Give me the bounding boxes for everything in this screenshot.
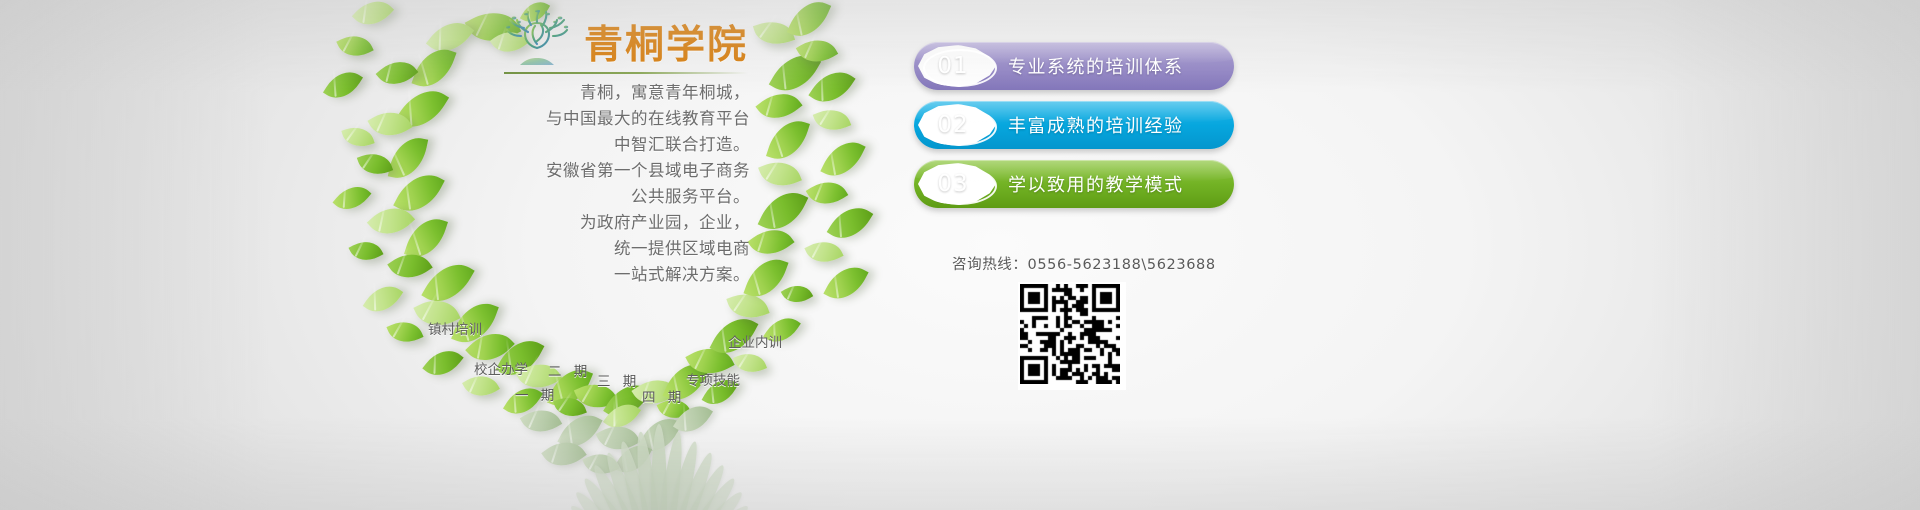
- feature-list: 01 专业系统的培训体系 02 丰富成熟的培训经验 03 学以致用的教学模式: [914, 42, 1234, 219]
- leaf-shape: [557, 406, 602, 455]
- grass-blade: [588, 462, 660, 510]
- category-label-0: 镇村培训: [428, 318, 482, 338]
- description-line-7: 一站式解决方案。: [430, 262, 750, 288]
- leaf-shape: [820, 134, 865, 185]
- leaf-shape: [755, 83, 802, 128]
- leaf-shape: [614, 438, 652, 480]
- leaf-shape: [743, 252, 788, 304]
- leaf-shape: [753, 15, 795, 51]
- leaf-shape: [638, 411, 682, 460]
- grass-blade: [656, 450, 717, 510]
- leaf-shape: [758, 183, 809, 239]
- category-label-2: 校企办学: [474, 358, 528, 378]
- description-line-2: 中智汇联合打造。: [430, 132, 750, 158]
- feature-item-03[interactable]: 03 学以致用的教学模式: [914, 160, 1234, 208]
- leaf-shape: [541, 432, 587, 476]
- grass-blade: [578, 474, 658, 510]
- phase-label-3: 四 期: [642, 386, 685, 406]
- phase-label-0: 一 期: [515, 384, 558, 404]
- grass-fan-decoration: [505, 394, 805, 510]
- phase-label-2: 三 期: [597, 370, 640, 390]
- hotline-text: 咨询热线：0556-5623188\5623688: [952, 253, 1216, 274]
- leaf-shape: [804, 234, 843, 270]
- feature-number-01: 01: [914, 53, 992, 79]
- leaf-shape: [520, 401, 562, 441]
- feature-label-02: 丰富成熟的培训经验: [992, 112, 1234, 138]
- description-text: 青桐，寓意青年桐城，与中国最大的在线教育平台中智汇联合打造。安徽省第一个县域电子…: [430, 80, 750, 288]
- leaf-shape: [726, 287, 769, 326]
- leaf-shape: [747, 220, 794, 265]
- tree-icon: [498, 8, 576, 68]
- feature-label-03: 学以致用的教学模式: [992, 171, 1234, 197]
- grass-blade: [615, 440, 664, 510]
- leaf-shape: [426, 12, 474, 62]
- leaf-shape: [422, 342, 463, 385]
- feature-item-01[interactable]: 01 专业系统的培训体系: [914, 42, 1234, 90]
- leaf-shape: [603, 396, 641, 436]
- grass-blade: [664, 501, 752, 510]
- qr-code-image: [1018, 282, 1126, 390]
- leaf-shape: [376, 52, 419, 94]
- leaf-shape: [333, 178, 372, 218]
- grass-blade: [632, 431, 665, 510]
- phase-label-1: 二 期: [548, 360, 591, 380]
- feature-number-03: 03: [914, 171, 992, 197]
- description-line-0: 青桐，寓意青年桐城，: [430, 80, 750, 106]
- leaf-shape: [796, 31, 838, 71]
- leaf-shape: [758, 154, 802, 193]
- feature-label-01: 专业系统的培训体系: [992, 53, 1234, 79]
- leaf-shape: [823, 258, 868, 307]
- grass-blade: [660, 474, 740, 510]
- description-line-5: 为政府产业园，企业，: [430, 210, 750, 236]
- leaf-shape: [341, 122, 374, 152]
- feature-item-02[interactable]: 02 丰富成熟的培训经验: [914, 101, 1234, 149]
- leaf-shape: [367, 197, 415, 245]
- promo-banner: 青桐学院 青桐，寓意青年桐城，与中国最大的在线教育平台中智汇联合打造。安徽省第一…: [0, 0, 1920, 510]
- leaf-shape: [813, 103, 852, 137]
- brand-logo: 青桐学院: [498, 6, 754, 74]
- page-title: 青桐学院: [584, 24, 748, 68]
- grass-blade: [651, 424, 667, 510]
- grass-blade: [566, 501, 654, 510]
- description-line-1: 与中国最大的在线教育平台: [430, 106, 750, 132]
- leaf-shape: [806, 173, 849, 213]
- grass-blade: [601, 450, 662, 510]
- description-line-4: 公共服务平台。: [430, 184, 750, 210]
- grass-blade: [662, 487, 747, 510]
- logo-divider: [504, 72, 748, 74]
- description-line-3: 安徽省第一个县域电子商务: [430, 158, 750, 184]
- leaf-shape: [367, 103, 412, 145]
- leaf-shape: [787, 0, 831, 44]
- leaf-shape: [357, 148, 393, 181]
- leaf-shape: [336, 29, 373, 64]
- leaf-shape: [781, 279, 814, 309]
- grass-blade: [654, 440, 703, 510]
- leaf-shape: [766, 114, 810, 166]
- leaf-shape: [387, 244, 433, 287]
- leaf-shape: [363, 278, 404, 321]
- leaf-shape: [827, 198, 874, 248]
- leaf-shape: [582, 447, 619, 482]
- leaf-shape: [388, 133, 428, 183]
- grass-blade: [653, 431, 686, 510]
- category-label-1: 企业内训: [728, 331, 782, 351]
- leaf-shape: [352, 0, 394, 34]
- leaf-shape: [323, 64, 363, 107]
- feature-number-02: 02: [914, 112, 992, 138]
- category-label-3: 专项技能: [686, 369, 740, 389]
- leaf-shape: [769, 45, 821, 102]
- leaf-shape: [348, 235, 383, 268]
- leaf-shape: [596, 417, 641, 459]
- grass-blade: [571, 487, 656, 510]
- leaf-shape: [386, 315, 423, 349]
- leaf-shape: [808, 62, 855, 112]
- description-line-6: 统一提供区域电商: [430, 236, 750, 262]
- grass-blade: [658, 462, 730, 510]
